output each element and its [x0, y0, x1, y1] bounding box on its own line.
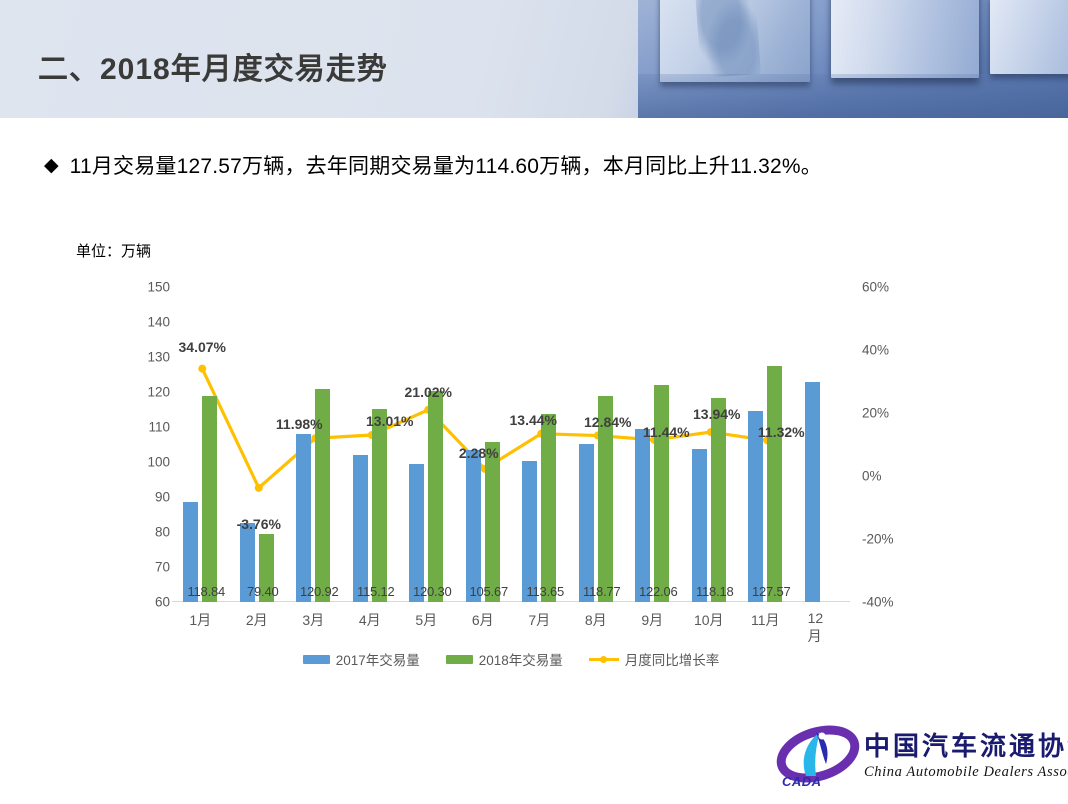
- header-decoration-image: [638, 0, 1068, 118]
- growth-rate-label: 11.32%: [758, 424, 805, 440]
- x-axis-tick-label: 2月: [246, 610, 268, 630]
- bar-2018: [202, 396, 217, 602]
- left-axis-tick: 90: [130, 490, 170, 505]
- chart-plot-area: 118.8479.40120.92115.12120.30105.67113.6…: [172, 287, 850, 602]
- right-axis-tick: 60%: [862, 280, 889, 295]
- growth-rate-label: 2.28%: [459, 445, 499, 461]
- left-axis-tick: 80: [130, 525, 170, 540]
- left-axis: 60708090100110120130140150: [130, 287, 170, 602]
- growth-rate-label: -3.76%: [237, 516, 281, 532]
- left-axis-tick: 130: [130, 350, 170, 365]
- chart-bar-group: 79.40: [240, 287, 274, 602]
- bar-2017: [635, 429, 650, 602]
- bar-value-label: 120.30: [405, 584, 459, 599]
- bar-value-label: 118.18: [688, 584, 742, 599]
- bar-2018: [767, 366, 782, 602]
- left-axis-tick: 110: [130, 420, 170, 435]
- x-axis-tick-label: 1月: [189, 610, 211, 630]
- bar-2017: [296, 434, 311, 602]
- chart-bar-group: 118.77: [579, 287, 613, 602]
- chart-legend: 2017年交易量2018年交易量月度同比增长率: [172, 648, 850, 670]
- left-axis-tick: 70: [130, 560, 170, 575]
- chart-bar-group: 118.84: [183, 287, 217, 602]
- left-axis-tick: 100: [130, 455, 170, 470]
- slide: 二、2018年月度交易走势 ◆ 11月交易量127.57万辆，去年同期交易量为1…: [0, 0, 1068, 804]
- legend-label: 月度同比增长率: [625, 649, 720, 669]
- bar-value-label: 118.84: [179, 584, 233, 599]
- chart-bar-group: 113.65: [522, 287, 556, 602]
- bar-value-label: 122.06: [631, 584, 685, 599]
- chart-bar-group: 120.92: [296, 287, 330, 602]
- legend-item[interactable]: 月度同比增长率: [589, 649, 720, 669]
- legend-color-swatch: [446, 655, 473, 664]
- bar-2018: [541, 414, 556, 602]
- chart-bar-group: 127.57: [748, 287, 782, 602]
- cada-emblem-icon: CADA: [776, 724, 860, 790]
- logo-chinese-name: 中国汽车流通协会: [864, 726, 1068, 763]
- cube-graphic-2: [831, 0, 979, 78]
- right-axis-tick: 20%: [862, 406, 889, 421]
- bar-value-label: 79.40: [236, 584, 290, 599]
- legend-line-marker-icon: [589, 655, 619, 664]
- bar-2017: [522, 461, 537, 602]
- x-axis-tick-label: 4月: [359, 610, 381, 630]
- bar-2017: [353, 455, 368, 602]
- cada-logo: CADA 中国汽车流通协会 China Automobile Dealers A…: [776, 722, 1061, 792]
- cube-graphic-3: [990, 0, 1068, 74]
- bar-value-label: 105.67: [462, 584, 516, 599]
- x-axis-tick-label: 12月: [808, 610, 836, 646]
- chart-bar-group: 122.06: [635, 287, 669, 602]
- bar-value-label: 120.92: [292, 584, 346, 599]
- bullet-row: ◆ 11月交易量127.57万辆，去年同期交易量为114.60万辆，本月同比上升…: [44, 150, 822, 180]
- bar-2017: [466, 450, 481, 602]
- bar-2017: [409, 464, 424, 602]
- cube-graphic-1: [660, 0, 810, 82]
- right-axis-tick: 0%: [862, 469, 882, 484]
- bullet-text: 11月交易量127.57万辆，去年同期交易量为114.60万辆，本月同比上升11…: [70, 150, 822, 180]
- chart-bar-group: 115.12: [353, 287, 387, 602]
- legend-item[interactable]: 2017年交易量: [303, 649, 420, 669]
- growth-rate-label: 34.07%: [179, 339, 226, 355]
- bar-2018: [428, 391, 443, 602]
- right-axis-tick: -20%: [862, 532, 894, 547]
- x-axis-tick-label: 7月: [528, 610, 550, 630]
- page-title: 二、2018年月度交易走势: [38, 44, 388, 88]
- x-axis-tick-label: 5月: [415, 610, 437, 630]
- chart-bar-group: 118.18: [692, 287, 726, 602]
- x-axis-labels: 1月2月3月4月5月6月7月8月9月10月11月12月: [172, 610, 850, 636]
- monthly-transaction-chart: 60708090100110120130140150 -40%-20%0%20%…: [0, 270, 1000, 670]
- bar-2017: [805, 382, 820, 603]
- slide-header: 二、2018年月度交易走势: [0, 0, 1068, 118]
- x-axis-tick-label: 10月: [694, 610, 724, 630]
- left-axis-tick: 150: [130, 280, 170, 295]
- right-axis-tick: 40%: [862, 343, 889, 358]
- left-axis-tick: 140: [130, 315, 170, 330]
- growth-rate-label: 11.98%: [276, 416, 323, 432]
- bar-2017: [692, 449, 707, 602]
- growth-rate-label: 21.02%: [405, 384, 452, 400]
- bar-2018: [485, 442, 500, 602]
- bar-value-label: 118.77: [575, 584, 629, 599]
- right-axis-tick: -40%: [862, 595, 894, 610]
- legend-color-swatch: [303, 655, 330, 664]
- x-axis-tick-label: 3月: [302, 610, 324, 630]
- growth-rate-label: 13.01%: [366, 413, 413, 429]
- legend-item[interactable]: 2018年交易量: [446, 649, 563, 669]
- growth-rate-label: 13.44%: [510, 412, 557, 428]
- x-axis-tick-label: 8月: [585, 610, 607, 630]
- chart-unit-label: 单位：万辆: [76, 240, 151, 261]
- growth-rate-label: 12.84%: [584, 414, 631, 430]
- bar-2018: [654, 385, 669, 602]
- bar-2018: [372, 409, 387, 602]
- bar-2018: [711, 398, 726, 602]
- left-axis-tick: 60: [130, 595, 170, 610]
- legend-label: 2017年交易量: [336, 649, 420, 669]
- svg-text:CADA: CADA: [782, 774, 822, 789]
- logo-english-name: China Automobile Dealers Association: [864, 764, 1068, 781]
- bar-value-label: 115.12: [349, 584, 403, 599]
- chart-bar-group: 120.30: [409, 287, 443, 602]
- bar-value-label: 113.65: [518, 584, 572, 599]
- diamond-bullet-icon: ◆: [44, 156, 59, 175]
- left-axis-tick: 120: [130, 385, 170, 400]
- x-axis-tick-label: 9月: [641, 610, 663, 630]
- growth-rate-label: 13.94%: [693, 406, 740, 422]
- bar-value-label: 127.57: [744, 584, 798, 599]
- right-axis: -40%-20%0%20%40%60%: [862, 287, 922, 602]
- chart-bar-group: [805, 287, 839, 602]
- growth-rate-label: 11.44%: [643, 424, 690, 440]
- legend-label: 2018年交易量: [479, 649, 563, 669]
- x-axis-tick-label: 11月: [751, 610, 780, 630]
- bar-2017: [579, 444, 594, 602]
- x-axis-tick-label: 6月: [472, 610, 494, 630]
